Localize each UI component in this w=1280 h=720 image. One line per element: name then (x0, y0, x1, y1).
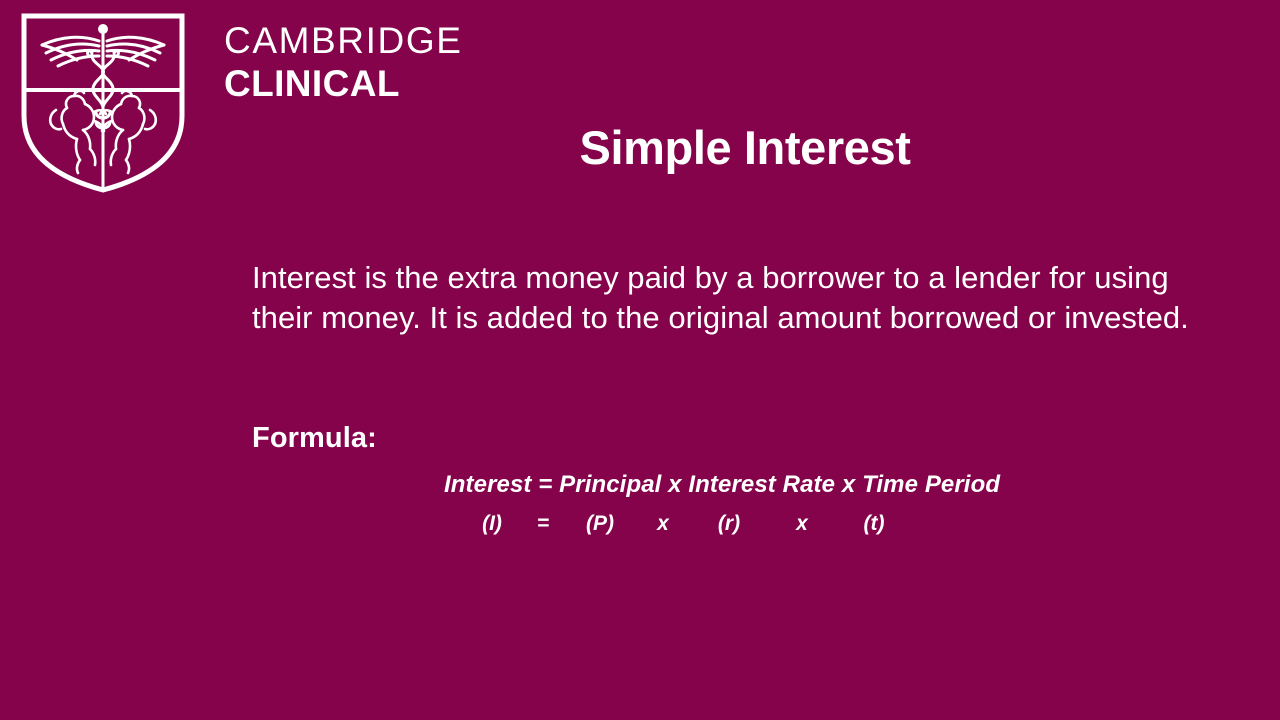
formula-symbol-interest: (I) (470, 512, 514, 536)
wordmark-cambridge: CAMBRIDGE (224, 22, 462, 59)
formula-expression: Interest = Principal x Interest Rate x T… (444, 471, 1232, 499)
body-text-block: Interest is the extra money paid by a bo… (252, 258, 1232, 338)
page-title: Simple Interest (0, 120, 1280, 175)
formula-symbol-equals: = (514, 512, 572, 536)
formula-label: Formula: (252, 422, 1232, 455)
formula-symbol-times-two: x (760, 512, 844, 536)
brand-wordmark: CAMBRIDGE CLINICAL (224, 22, 462, 102)
definition-paragraph: Interest is the extra money paid by a bo… (252, 258, 1232, 338)
formula-symbol-time: (t) (844, 512, 904, 536)
wordmark-clinical: CLINICAL (224, 65, 462, 102)
formula-lines: Interest = Principal x Interest Rate x T… (252, 471, 1232, 536)
caduceus-icon (42, 24, 164, 130)
formula-block: Formula: Interest = Principal x Interest… (252, 422, 1232, 536)
formula-symbol-rate: (r) (698, 512, 760, 536)
formula-symbol-times-one: x (628, 512, 698, 536)
slide-canvas: CAMBRIDGE CLINICAL Simple Interest Inter… (0, 0, 1280, 720)
formula-symbol-row: (I) = (P) x (r) x (t) (444, 512, 1232, 536)
formula-symbol-principal: (P) (572, 512, 628, 536)
